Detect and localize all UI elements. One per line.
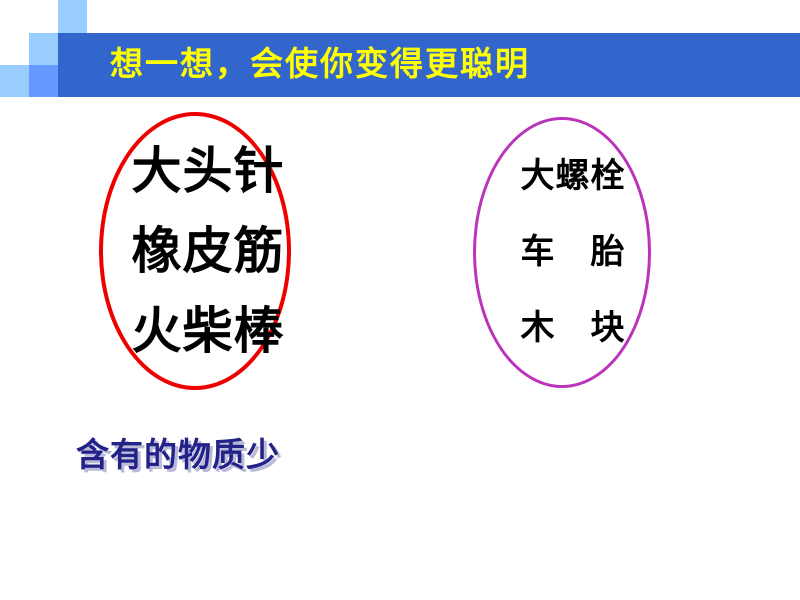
decor-square-bottom-medium: [29, 65, 58, 97]
purple-ellipse-text-block: 大螺栓 车 胎 木 块: [473, 117, 651, 388]
group-small-objects: 大头针 橡皮筋 火柴棒: [99, 112, 291, 390]
list-item: 大头针: [132, 131, 285, 211]
list-item: 木 块: [521, 291, 626, 367]
list-item: 橡皮筋: [132, 211, 285, 291]
slide-canvas: 想一想，会使你变得更聪明 大头针 橡皮筋 火柴棒 大螺栓 车 胎 木 块 含有的…: [0, 0, 800, 600]
caption-text: 含有的物质少: [76, 428, 280, 476]
decor-square-bottom-light: [0, 65, 29, 97]
list-item: 车 胎: [521, 215, 626, 291]
red-ellipse-text-block: 大头针 橡皮筋 火柴棒: [99, 112, 291, 390]
list-item: 火柴棒: [132, 291, 285, 371]
group-large-objects: 大螺栓 车 胎 木 块: [473, 117, 651, 388]
slide-title: 想一想，会使你变得更聪明: [110, 33, 770, 97]
list-item: 大螺栓: [521, 139, 626, 215]
decor-square-middle-light: [29, 33, 58, 65]
decor-square-top-light: [58, 0, 87, 33]
